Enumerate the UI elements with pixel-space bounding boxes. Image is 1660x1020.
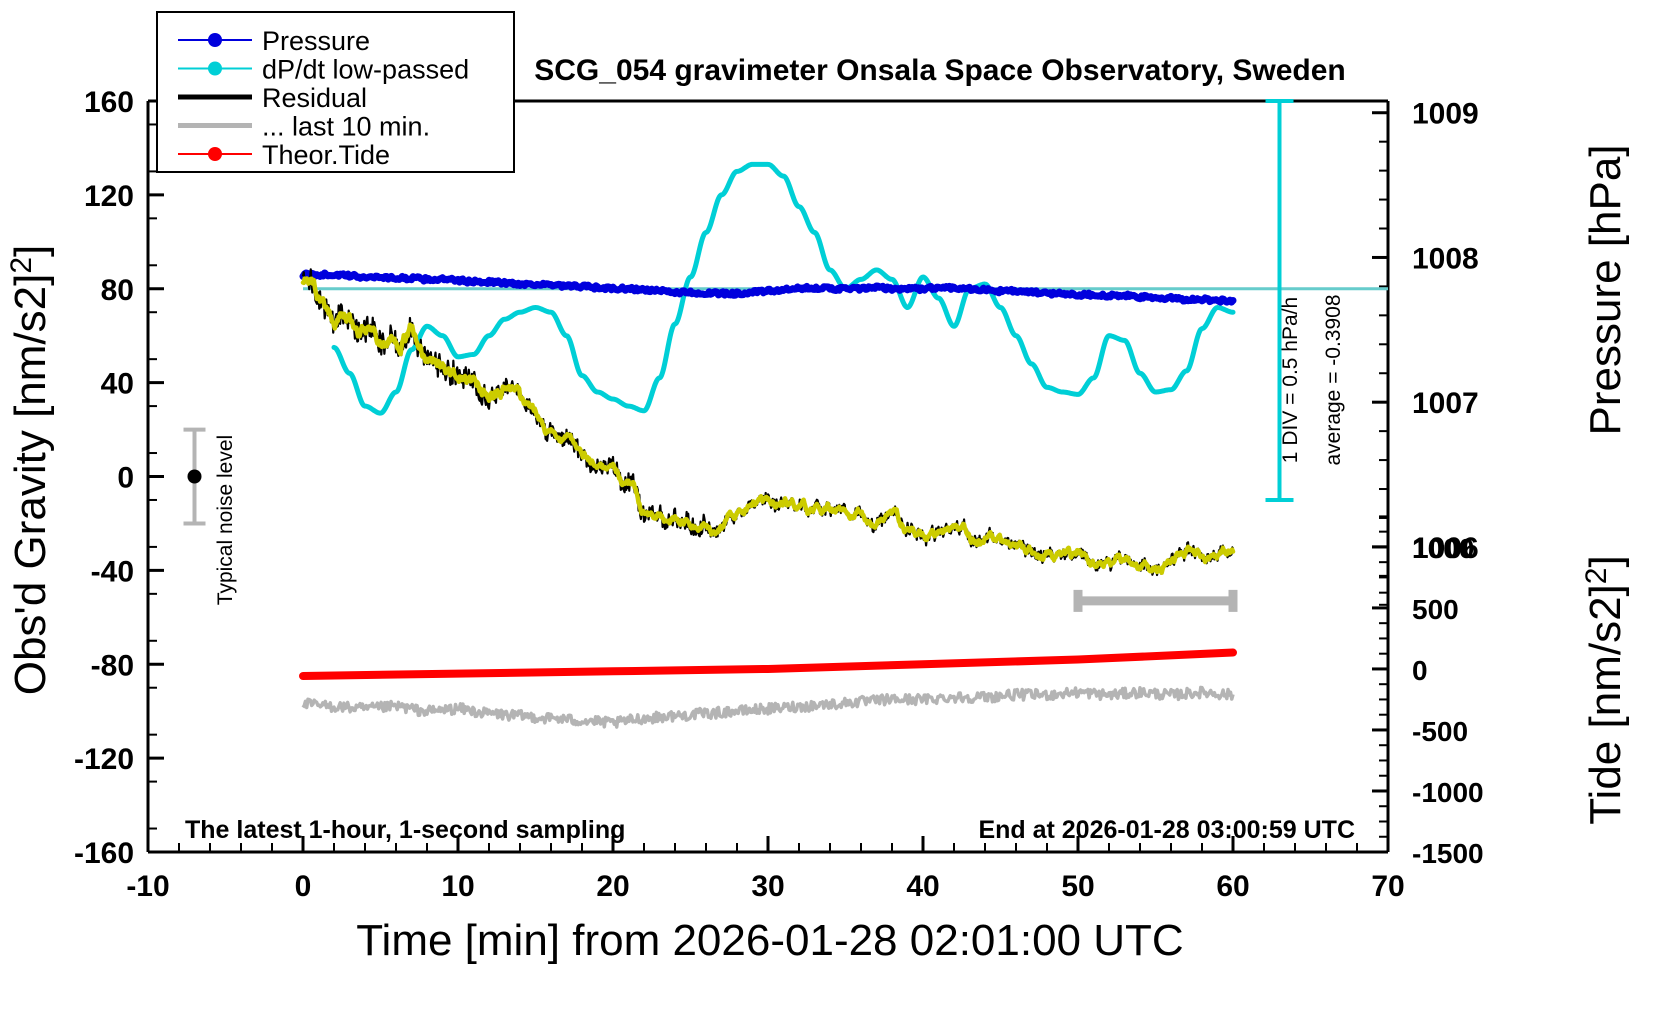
y-tick-label: 0	[117, 462, 134, 495]
legend-marker-1	[208, 33, 222, 47]
typical-noise-level-point	[188, 470, 202, 484]
tide-tick-label: 1000	[1412, 533, 1474, 564]
y-axis-title: Obs'd Gravity [nm/s2]2]	[5, 245, 55, 696]
y-tick-label: -80	[91, 649, 134, 682]
legend: PressuredP/dt low-passedResidual... last…	[157, 12, 514, 172]
x-tick-label: 40	[906, 870, 939, 903]
gravimeter-plot: 16012080400-40-80-120-160-10010203040506…	[0, 0, 1660, 1020]
y-tick-label: 80	[101, 274, 134, 307]
x-tick-label: 60	[1216, 870, 1249, 903]
chart-canvas: 16012080400-40-80-120-160-10010203040506…	[0, 0, 1660, 1020]
y-tick-label: -40	[91, 555, 134, 588]
div-scale-label: 1 DIV = 0.5 hPa/h	[1279, 297, 1302, 463]
tide-tick-label: 0	[1412, 655, 1428, 686]
tide-tick-label: -1000	[1412, 777, 1484, 808]
legend-marker-5	[208, 147, 222, 161]
x-tick-label: 50	[1061, 870, 1094, 903]
y-tick-label: -160	[74, 837, 134, 870]
y-tick-label: 120	[84, 180, 134, 213]
x-tick-label: 20	[596, 870, 629, 903]
tide-axis-title: Tide [nm/s2]2]	[1580, 555, 1630, 824]
tide-tick-label: -500	[1412, 716, 1468, 747]
x-tick-label: -10	[126, 870, 169, 903]
legend-label-1[interactable]: Pressure	[262, 26, 370, 56]
tide-tick-label: 500	[1412, 594, 1459, 625]
average-label: average = -0.3908	[1322, 294, 1345, 465]
legend-label-2[interactable]: dP/dt low-passed	[262, 55, 469, 85]
footer-right-text: End at 2026-01-28 03:00:59 UTC	[978, 816, 1355, 844]
footer-left-text: The latest 1-hour, 1-second sampling	[185, 816, 625, 844]
legend-label-3[interactable]: Residual	[262, 83, 367, 113]
y-tick-label: 160	[84, 86, 134, 119]
legend-marker-2	[208, 62, 222, 76]
legend-label-4[interactable]: ... last 10 min.	[262, 112, 430, 142]
y-tick-label: -120	[74, 743, 134, 776]
x-tick-label: 0	[295, 870, 312, 903]
pressure-tick-label: 1008	[1412, 242, 1479, 275]
x-tick-label: 10	[441, 870, 474, 903]
x-tick-label: 70	[1371, 870, 1404, 903]
y-tick-label: 40	[101, 368, 134, 401]
x-axis-title: Time [min] from 2026-01-28 02:01:00 UTC	[356, 916, 1183, 965]
pressure-tick-label: 1007	[1412, 387, 1479, 420]
pressure-axis-title: Pressure [hPa]	[1581, 144, 1630, 435]
legend-label-5[interactable]: Theor.Tide	[262, 140, 390, 170]
x-tick-label: 30	[751, 870, 784, 903]
typical-noise-level-label: Typical noise level	[214, 435, 237, 605]
chart-title: SCG_054 gravimeter Onsala Space Observat…	[534, 54, 1346, 87]
pressure-tick-label: 1009	[1412, 98, 1479, 131]
tide-tick-label: -1500	[1412, 838, 1484, 869]
